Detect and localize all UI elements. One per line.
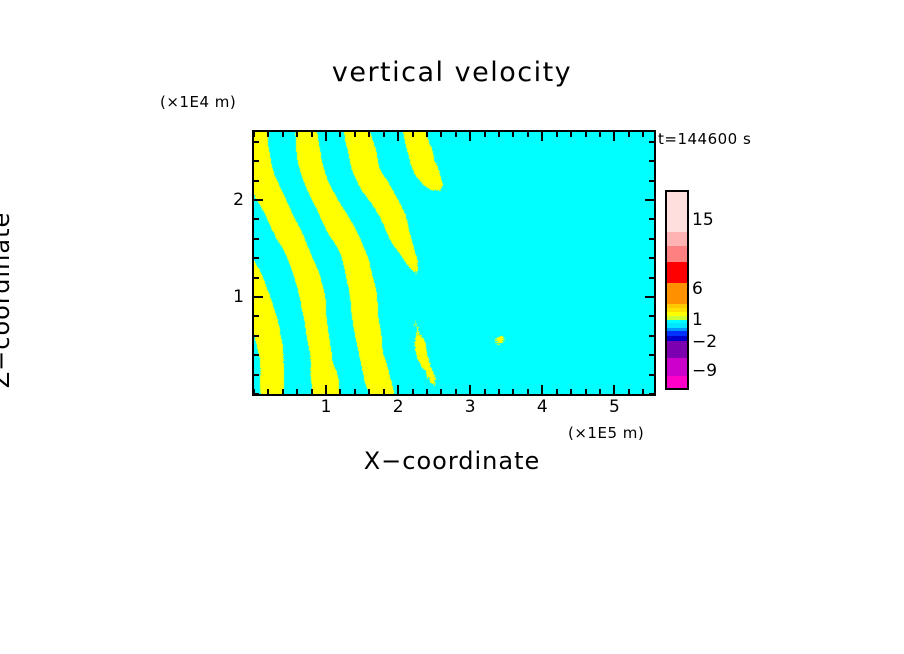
- colorbar-band: [667, 246, 687, 262]
- y-axis-minor-tick: [649, 315, 654, 317]
- y-axis-minor-tick: [649, 218, 654, 220]
- x-axis-minor-tick: [512, 389, 514, 394]
- x-axis-minor-tick: [311, 132, 313, 137]
- x-axis-major-tick: [613, 132, 615, 141]
- x-axis-major-tick: [541, 132, 543, 141]
- y-axis-minor-tick: [254, 315, 259, 317]
- x-axis-minor-tick: [311, 389, 313, 394]
- x-axis-minor-tick: [527, 389, 529, 394]
- y-axis-minor-tick: [649, 141, 654, 143]
- x-axis-minor-tick: [498, 389, 500, 394]
- colorbar-band: [667, 192, 687, 232]
- x-axis-minor-tick: [527, 132, 529, 137]
- y-axis-minor-tick: [254, 374, 259, 376]
- colorbar-band: [667, 376, 687, 388]
- x-axis-minor-tick: [585, 389, 587, 394]
- y-axis-minor-tick: [254, 335, 259, 337]
- x-axis-minor-tick: [383, 132, 385, 137]
- x-axis-major-tick: [469, 132, 471, 141]
- x-axis-minor-tick: [368, 132, 370, 137]
- y-axis-minor-tick: [649, 354, 654, 356]
- y-axis-major-tick: [254, 199, 263, 201]
- y-tick-label: 1: [214, 287, 244, 307]
- x-axis-minor-tick: [412, 389, 414, 394]
- x-axis-minor-tick: [296, 132, 298, 137]
- x-axis-minor-tick: [642, 389, 644, 394]
- page-title: vertical velocity: [0, 57, 904, 88]
- x-axis-minor-tick: [556, 389, 558, 394]
- y-axis-minor-tick: [649, 238, 654, 240]
- x-axis-minor-tick: [354, 132, 356, 137]
- x-axis-minor-tick: [354, 389, 356, 394]
- y-axis-major-tick: [645, 296, 654, 298]
- colorbar-band: [667, 283, 687, 304]
- x-axis-minor-tick: [570, 132, 572, 137]
- x-axis-minor-tick: [426, 389, 428, 394]
- y-axis-minor-tick: [254, 277, 259, 279]
- x-tick-label: 1: [321, 397, 332, 417]
- x-tick-label: 5: [609, 397, 620, 417]
- x-axis-major-tick: [397, 132, 399, 141]
- time-annotation: t=144600 s: [658, 130, 751, 148]
- x-axis-minor-tick: [282, 389, 284, 394]
- colorbar: [665, 190, 689, 390]
- y-axis-minor-tick: [254, 218, 259, 220]
- colorbar-band: [667, 341, 687, 359]
- x-axis-minor-tick: [498, 132, 500, 137]
- x-axis-minor-tick: [642, 132, 644, 137]
- y-axis-major-tick: [645, 199, 654, 201]
- x-axis-minor-tick: [599, 132, 601, 137]
- x-axis-minor-tick: [296, 389, 298, 394]
- x-tick-label: 3: [465, 397, 476, 417]
- x-axis-minor-tick: [585, 132, 587, 137]
- x-axis-minor-tick: [368, 389, 370, 394]
- x-axis-major-tick: [325, 132, 327, 141]
- y-axis-minor-tick: [254, 393, 259, 395]
- x-axis-major-tick: [613, 385, 615, 394]
- y-axis-major-tick: [254, 296, 263, 298]
- x-axis-minor-tick: [556, 132, 558, 137]
- colorbar-band: [667, 232, 687, 246]
- colorbar-tick-label: −2: [692, 332, 717, 352]
- y-axis-title: Z−coordinate: [0, 169, 15, 431]
- x-tick-label: 4: [537, 397, 548, 417]
- x-axis-major-tick: [325, 385, 327, 394]
- x-tick-label: 2: [393, 397, 404, 417]
- x-axis-minor-tick: [484, 132, 486, 137]
- y-axis-minor-tick: [649, 335, 654, 337]
- y-axis-minor-tick: [254, 141, 259, 143]
- y-axis-minor-tick: [649, 257, 654, 259]
- y-axis-minor-tick: [649, 180, 654, 182]
- x-axis-minor-tick: [570, 389, 572, 394]
- colorbar-tick-label: −9: [692, 361, 717, 381]
- y-axis-minor-tick: [254, 354, 259, 356]
- x-axis-minor-tick: [426, 132, 428, 137]
- y-axis-unit-label: (×1E4 m): [160, 93, 236, 111]
- x-axis-minor-tick: [455, 389, 457, 394]
- x-axis-minor-tick: [383, 389, 385, 394]
- x-axis-minor-tick: [484, 389, 486, 394]
- x-axis-minor-tick: [282, 132, 284, 137]
- y-axis-minor-tick: [254, 257, 259, 259]
- x-axis-minor-tick: [599, 389, 601, 394]
- x-axis-minor-tick: [267, 389, 269, 394]
- x-axis-minor-tick: [628, 132, 630, 137]
- x-axis-minor-tick: [412, 132, 414, 137]
- y-axis-minor-tick: [649, 393, 654, 395]
- x-axis-unit-label: (×1E5 m): [568, 424, 644, 442]
- x-axis-title: X−coordinate: [252, 447, 652, 475]
- x-axis-major-tick: [541, 385, 543, 394]
- y-axis-minor-tick: [254, 180, 259, 182]
- x-axis-minor-tick: [455, 132, 457, 137]
- y-tick-label: 2: [214, 190, 244, 210]
- x-axis-minor-tick: [628, 389, 630, 394]
- x-axis-minor-tick: [512, 132, 514, 137]
- x-axis-major-tick: [397, 385, 399, 394]
- vertical-velocity-field: [254, 132, 654, 394]
- contour-plot-area: [252, 130, 656, 396]
- y-axis-minor-tick: [649, 374, 654, 376]
- colorbar-band: [667, 358, 687, 376]
- colorbar-band: [667, 262, 687, 283]
- x-axis-minor-tick: [440, 389, 442, 394]
- y-axis-minor-tick: [649, 160, 654, 162]
- y-axis-minor-tick: [254, 238, 259, 240]
- x-axis-minor-tick: [440, 132, 442, 137]
- x-axis-major-tick: [469, 385, 471, 394]
- y-axis-minor-tick: [254, 160, 259, 162]
- x-axis-minor-tick: [339, 132, 341, 137]
- colorbar-tick-label: 1: [692, 310, 703, 330]
- y-axis-minor-tick: [649, 277, 654, 279]
- x-axis-minor-tick: [339, 389, 341, 394]
- colorbar-tick-label: 15: [692, 210, 714, 230]
- x-axis-minor-tick: [267, 132, 269, 137]
- x-axis-minor-tick: [253, 132, 255, 137]
- colorbar-tick-label: 6: [692, 279, 703, 299]
